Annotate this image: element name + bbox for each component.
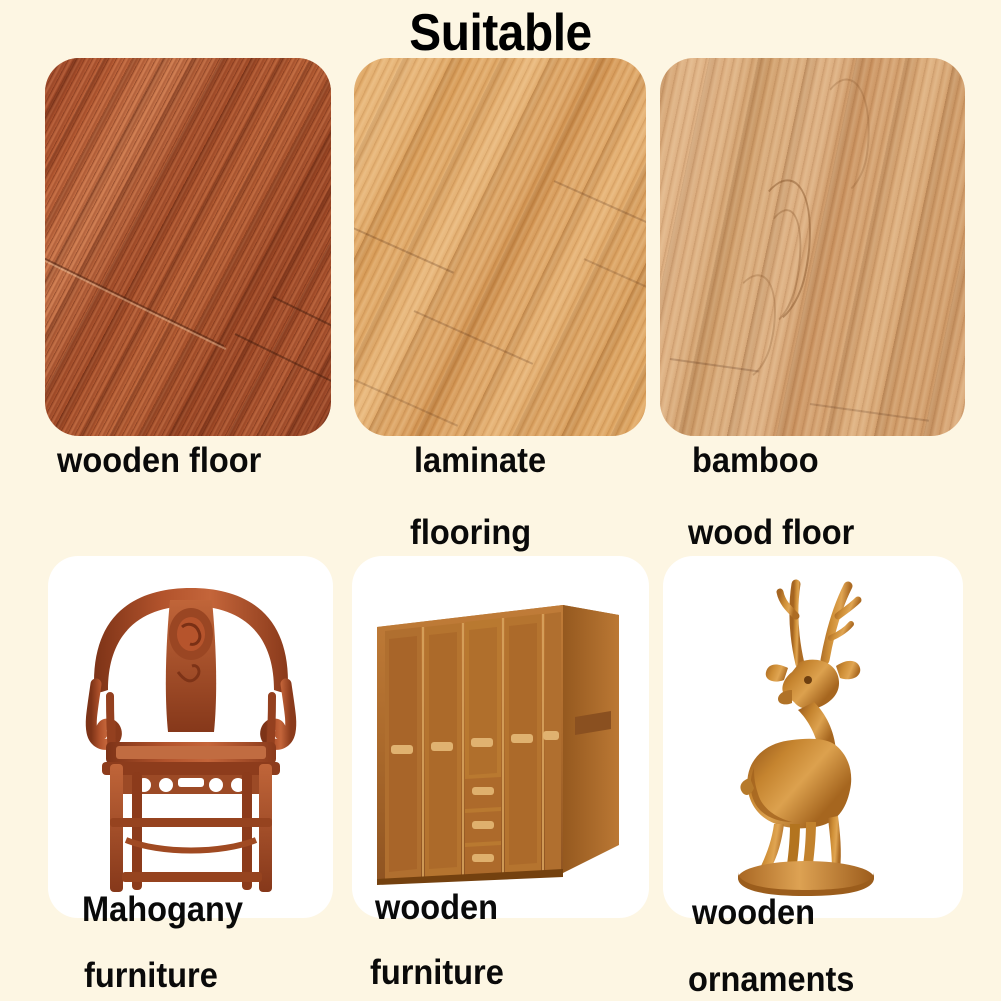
label-bamboo-wood-floor-line1: bamboo	[692, 443, 819, 478]
deer-front-leg-right	[828, 816, 841, 870]
deer-left-ear	[766, 665, 788, 682]
deer-muzzle	[778, 690, 792, 704]
chair-curved-stretcher	[126, 840, 256, 851]
chair-leg	[110, 764, 123, 892]
chair-stretcher	[110, 818, 272, 827]
apron-fret	[178, 778, 204, 787]
page-title: Suitable	[40, 6, 961, 61]
label-wooden-floor-line1: wooden floor	[57, 443, 261, 478]
wardrobe-handle[interactable]	[431, 742, 453, 751]
tile-wooden-ornaments[interactable]	[663, 556, 963, 918]
bamboo-wood-floor-texture	[660, 58, 965, 436]
mahogany-chair-illustration	[66, 572, 316, 902]
wardrobe-drawers	[465, 777, 501, 875]
deer-body	[747, 739, 851, 829]
infographic-page: Suitable wooden floor laminate flooring …	[0, 0, 1001, 1001]
chair-footrest-stretcher	[122, 872, 262, 882]
wardrobe-door[interactable]	[545, 612, 561, 872]
tile-bamboo-wood-floor[interactable]	[660, 58, 965, 436]
chair-seat-panel	[116, 746, 266, 759]
tile-wooden-floor[interactable]	[45, 58, 331, 436]
label-mahogany-furniture-line1: Mahogany	[82, 892, 243, 927]
deer-eye	[804, 676, 812, 684]
wardrobe-door-panel	[509, 623, 537, 865]
label-wooden-furniture-line2: furniture	[370, 955, 504, 990]
label-wooden-ornaments-line1: wooden	[692, 895, 815, 930]
tile-mahogany-furniture[interactable]	[48, 556, 333, 918]
deer-right-ear	[836, 661, 860, 679]
label-wooden-furniture-line1: wooden	[375, 890, 498, 925]
label-laminate-flooring-line1: laminate	[414, 443, 546, 478]
label-wooden-ornaments-line2: ornaments	[688, 962, 854, 997]
wooden-deer-figurine-illustration	[688, 572, 938, 902]
wardrobe-handle[interactable]	[391, 745, 413, 754]
wooden-wardrobe-illustration	[365, 587, 637, 887]
wardrobe-handle[interactable]	[543, 731, 559, 740]
wardrobe-door-panel	[469, 627, 497, 775]
mahogany-chair-photo	[48, 556, 333, 918]
apron-fret	[159, 778, 173, 792]
chair-seat-rail	[102, 762, 280, 775]
label-bamboo-wood-floor-line2: wood floor	[688, 515, 854, 550]
apron-fret	[209, 778, 223, 792]
label-mahogany-furniture-line2: furniture	[84, 958, 218, 993]
drawer-handle[interactable]	[472, 787, 494, 795]
wardrobe-side-panel	[563, 605, 619, 873]
tile-wooden-furniture[interactable]	[352, 556, 649, 918]
deer-antlers	[780, 584, 858, 664]
label-laminate-flooring-line2: flooring	[410, 515, 531, 550]
wardrobe-handle[interactable]	[511, 734, 533, 743]
wooden-floor-texture	[45, 58, 331, 436]
tile-laminate-flooring[interactable]	[354, 58, 646, 436]
drawer-handle[interactable]	[472, 821, 494, 829]
drawer-handle[interactable]	[472, 854, 494, 862]
wardrobe-handle[interactable]	[471, 738, 493, 747]
